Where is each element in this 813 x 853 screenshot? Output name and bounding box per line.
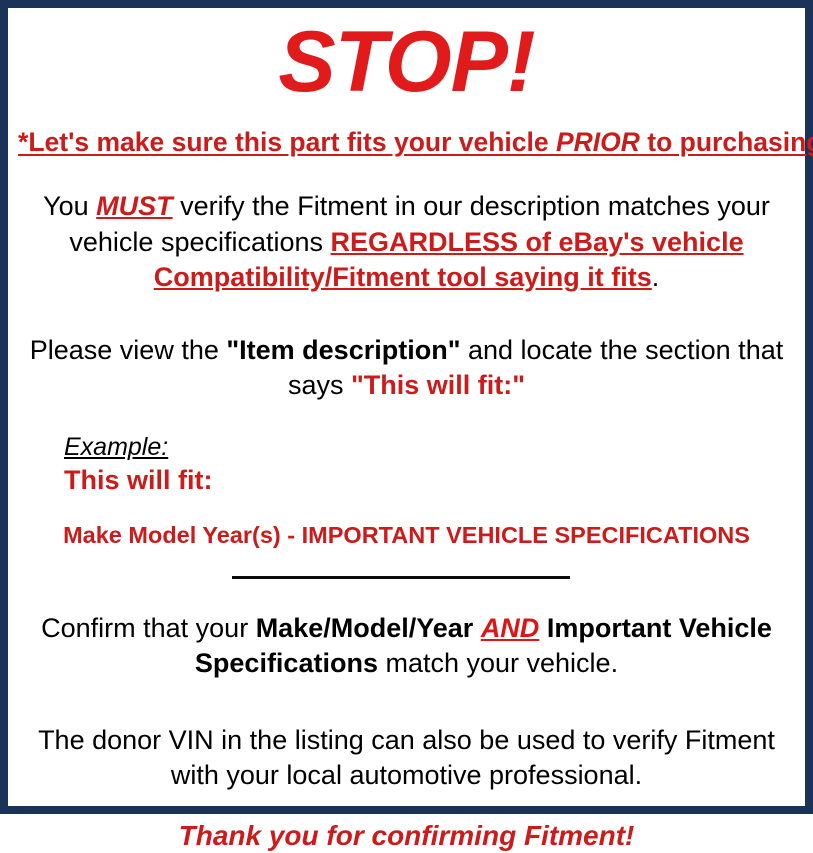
fitment-notice-card: STOP! *Let's make sure this part fits yo… — [0, 0, 813, 814]
section-divider-wrap — [18, 575, 795, 581]
must-part1: You — [43, 191, 96, 221]
confirm-part2: match your vehicle. — [378, 648, 618, 678]
closing-thank-you: Thank you for confirming Fitment! — [18, 819, 795, 853]
make-model-year-label: Make/Model/Year — [256, 613, 474, 643]
example-block: Example: This will fit: — [18, 433, 795, 497]
example-label: Example: — [64, 433, 168, 463]
confirm-part1: Confirm that your — [41, 613, 256, 643]
must-emphasis: MUST — [96, 191, 173, 221]
page-title: STOP! — [18, 14, 795, 110]
subtitle-suffix: to purchasing* — [640, 127, 813, 157]
paragraph-confirm: Confirm that your Make/Model/Year AND Im… — [18, 611, 795, 681]
desc-part1: Please view the — [30, 335, 227, 365]
subtitle-emphasis-prior: PRIOR — [556, 127, 640, 157]
confirm-space-2 — [539, 613, 547, 643]
example-fit-heading: This will fit: — [64, 464, 795, 496]
subtitle-banner: *Let's make sure this part fits your veh… — [18, 126, 795, 159]
item-description-label: "Item description" — [226, 335, 460, 365]
this-will-fit-quote: "This will fit:" — [351, 370, 525, 400]
notice-content: STOP! *Let's make sure this part fits yo… — [8, 8, 805, 806]
section-divider — [232, 576, 570, 579]
paragraph-must-verify: You MUST verify the Fitment in our descr… — [18, 189, 795, 294]
paragraph-donor-vin: The donor VIN in the listing can also be… — [18, 723, 795, 793]
confirm-space-1 — [473, 613, 481, 643]
example-spec-line: Make Model Year(s) - IMPORTANT VEHICLE S… — [18, 521, 795, 549]
paragraph-item-description: Please view the "Item description" and l… — [18, 333, 795, 403]
subtitle-prefix: *Let's make sure this part fits your veh… — [18, 127, 556, 157]
must-part3: . — [652, 262, 660, 292]
example-label-row: Example: — [64, 433, 795, 463]
and-emphasis: AND — [481, 613, 540, 643]
